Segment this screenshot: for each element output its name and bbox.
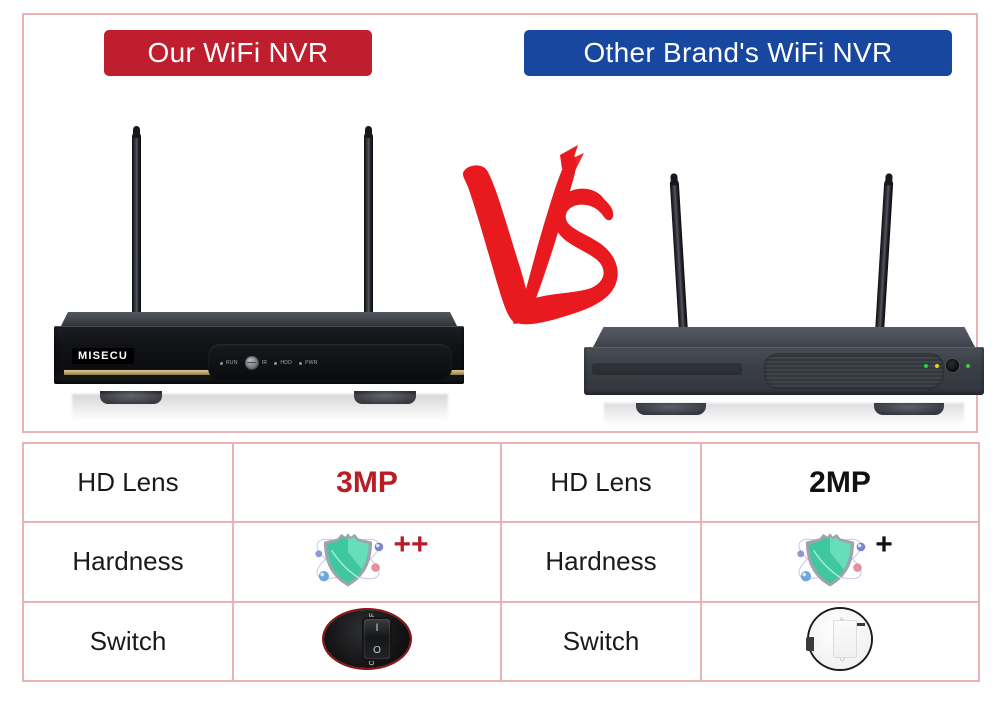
led-run-label: RUN — [226, 360, 238, 366]
row-label-hardness-left: Hardness — [72, 546, 183, 576]
led-pwr-label: PWR — [305, 360, 318, 366]
ir-receiver-icon — [946, 359, 959, 372]
cell-value-left: 3MP — [233, 443, 501, 522]
banner-other-nvr: Other Brand's WiFi NVR — [524, 30, 952, 76]
product-photo-panel: MISECU RUN IR — [22, 13, 978, 433]
value-hd-lens-other: 2MP — [809, 466, 871, 499]
led-ir: IR — [245, 356, 268, 370]
led-pwr: PWR — [299, 360, 318, 366]
led-dot-icon — [274, 362, 277, 365]
chassis-front-face: MISECU RUN IR — [54, 326, 464, 384]
hardness-shield-ours: ++ — [305, 528, 428, 590]
led-hdd: HDD — [274, 360, 292, 366]
surface-reflection — [604, 403, 964, 425]
led-dot-icon — [220, 362, 223, 365]
nvr-chassis-left: MISECU RUN IR — [54, 312, 464, 390]
cell-label-left: Switch — [23, 602, 233, 681]
front-panel-inset: RUN IR HDD — [208, 344, 452, 380]
led-dot-icon — [299, 362, 302, 365]
hardness-shield-other: + — [787, 528, 893, 590]
led-indicator-group — [924, 359, 970, 372]
comparison-table: HD Lens 3MP HD Lens 2MP Hardness — [22, 442, 980, 682]
nvr-chassis-right — [584, 327, 984, 403]
cell-value-right: + — [701, 522, 979, 601]
row-label-switch-left: Switch — [90, 626, 167, 656]
row-label-hd-lens-left: HD Lens — [77, 467, 178, 497]
cell-value-left: ++ — [233, 522, 501, 601]
table-row: Switch ON Power OFF Switch ON Power OFF — [23, 602, 979, 681]
banner-our-nvr: Our WiFi NVR — [104, 30, 372, 76]
led-indicator-group: RUN IR HDD — [220, 356, 318, 370]
cell-label-right: Hardness — [501, 522, 701, 601]
power-switch-other: ON Power OFF — [809, 609, 871, 669]
hardness-plus-other: + — [875, 530, 893, 560]
cell-label-left: HD Lens — [23, 443, 233, 522]
rocker-toggle-icon — [364, 619, 390, 659]
chassis-top-lid — [592, 327, 976, 349]
cell-label-left: Hardness — [23, 522, 233, 601]
misecu-logo: MISECU — [72, 348, 134, 364]
led-ir-label: IR — [262, 360, 268, 366]
antenna-left-1 — [132, 132, 141, 332]
banner-our-nvr-label: Our WiFi NVR — [148, 37, 329, 69]
row-label-switch-right: Switch — [563, 626, 640, 656]
switch-nub — [806, 637, 814, 651]
row-label-hardness-right: Hardness — [545, 546, 656, 576]
rocker-toggle-icon — [833, 620, 857, 658]
led-hdd-label: HDD — [280, 360, 292, 366]
device-image-our-nvr: MISECU RUN IR — [54, 115, 464, 420]
table-row: Hardness — [23, 522, 979, 601]
power-switch-ours: ON Power OFF — [324, 610, 410, 668]
chassis-front-face — [584, 347, 984, 395]
banner-other-nvr-label: Other Brand's WiFi NVR — [583, 37, 892, 69]
table-row: HD Lens 3MP HD Lens 2MP — [23, 443, 979, 522]
antenna-right-1 — [670, 179, 689, 349]
value-hd-lens-ours: 3MP — [336, 466, 398, 499]
status-led-1 — [924, 364, 928, 368]
status-led-3 — [966, 364, 970, 368]
antenna-left-2 — [364, 132, 373, 332]
row-label-hd-lens-right: HD Lens — [550, 467, 651, 497]
cell-label-right: HD Lens — [501, 443, 701, 522]
status-led-2 — [935, 364, 939, 368]
front-vent-grille — [764, 353, 944, 389]
cell-value-right: 2MP — [701, 443, 979, 522]
hardness-plus-ours: ++ — [393, 530, 428, 560]
led-run: RUN — [220, 360, 238, 366]
front-groove — [592, 363, 742, 375]
cell-value-left: ON Power OFF — [233, 602, 501, 681]
cell-label-right: Switch — [501, 602, 701, 681]
device-image-other-nvr — [584, 145, 984, 425]
comparison-infographic: MISECU RUN IR — [0, 0, 1000, 726]
cell-value-right: ON Power OFF — [701, 602, 979, 681]
antenna-right-2 — [874, 179, 893, 349]
ir-receiver-icon — [245, 356, 259, 370]
surface-reflection — [72, 394, 448, 420]
